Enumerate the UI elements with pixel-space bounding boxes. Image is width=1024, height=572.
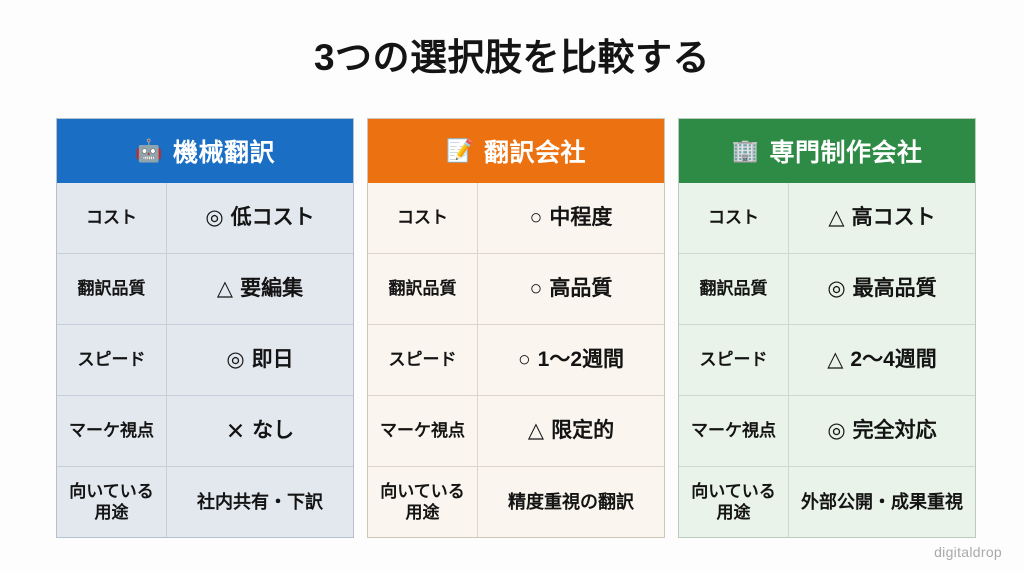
rating-mark: △	[827, 347, 843, 373]
rating-mark: ◎	[827, 276, 845, 302]
row-value-text: 外部公開・成果重視	[801, 491, 963, 514]
row-value-text: 中程度	[549, 205, 612, 231]
row-label: 翻訳品質	[368, 254, 478, 324]
table-header-specialist-production-company: 🏢 専門制作会社	[679, 119, 975, 183]
row-value: ○ 高品質	[478, 254, 664, 324]
row-value: △ 要編集	[167, 254, 353, 324]
table-row: スピード ◎ 即日	[57, 324, 353, 395]
row-label-line2: 用途	[95, 503, 129, 522]
row-label: コスト	[368, 183, 478, 253]
table-body: コスト △ 高コスト 翻訳品質 ◎ 最高品質 スピード △	[679, 183, 975, 537]
table-row: マーケ視点 △ 限定的	[368, 395, 664, 466]
row-value-text: 最高品質	[853, 276, 937, 302]
row-value: 外部公開・成果重視	[789, 467, 975, 537]
row-value-text: 即日	[252, 347, 294, 373]
row-value-text: 社内共有・下訳	[197, 491, 323, 514]
rating-mark: △	[828, 205, 844, 231]
row-label-line1: 向いている	[69, 482, 154, 501]
row-label-line1: 向いている	[691, 482, 776, 501]
row-value-text: 限定的	[551, 418, 614, 444]
row-label: 翻訳品質	[679, 254, 789, 324]
row-label: マーケ視点	[57, 396, 167, 466]
row-label: 翻訳品質	[57, 254, 167, 324]
rating-mark: ◎	[226, 347, 244, 373]
table-row: コスト ○ 中程度	[368, 183, 664, 253]
robot-icon: 🤖	[135, 140, 163, 162]
table-row: 翻訳品質 ◎ 最高品質	[679, 253, 975, 324]
row-value-text: なし	[252, 418, 294, 444]
row-value: ◎ 低コスト	[167, 183, 353, 253]
table-header-label: 専門制作会社	[769, 133, 922, 169]
row-value: 社内共有・下訳	[167, 467, 353, 537]
row-label: スピード	[679, 325, 789, 395]
row-label: マーケ視点	[368, 396, 478, 466]
row-value: ◎ 最高品質	[789, 254, 975, 324]
row-value: △ 限定的	[478, 396, 664, 466]
table-body: コスト ○ 中程度 翻訳品質 ○ 高品質 スピード ○	[368, 183, 664, 537]
row-label-line2: 用途	[717, 503, 751, 522]
table-header-label: 翻訳会社	[484, 133, 586, 169]
memo-icon: 📝	[446, 140, 474, 162]
row-value: ○ 中程度	[478, 183, 664, 253]
row-value: 精度重視の翻訳	[478, 467, 664, 537]
table-row: スピード ○ 1〜2週間	[368, 324, 664, 395]
watermark: digitaldrop	[934, 544, 1002, 560]
rating-mark: ○	[518, 347, 531, 373]
table-row: 翻訳品質 ○ 高品質	[368, 253, 664, 324]
page-title: 3つの選択肢を比較する	[0, 36, 1024, 80]
table-header-machine-translation: 🤖 機械翻訳	[57, 119, 353, 183]
comparison-table-translation-agency: 📝 翻訳会社 コスト ○ 中程度 翻訳品質 ○ 高品質	[367, 118, 665, 538]
table-body: コスト ◎ 低コスト 翻訳品質 △ 要編集 スピード ◎	[57, 183, 353, 537]
row-value: △ 高コスト	[789, 183, 975, 253]
table-row: 向いている 用途 精度重視の翻訳	[368, 466, 664, 537]
row-value: ✕ なし	[167, 396, 353, 466]
comparison-slide: 3つの選択肢を比較する 🤖 機械翻訳 コスト ◎ 低コスト 翻訳品質	[0, 0, 1024, 572]
row-label-line1: 向いている	[380, 482, 465, 501]
table-row: 向いている 用途 外部公開・成果重視	[679, 466, 975, 537]
comparison-tables-container: 🤖 機械翻訳 コスト ◎ 低コスト 翻訳品質 △ 要編集	[56, 118, 976, 538]
row-value-text: 低コスト	[231, 205, 315, 231]
row-value: ◎ 即日	[167, 325, 353, 395]
row-value-text: 高コスト	[852, 205, 936, 231]
table-row: コスト △ 高コスト	[679, 183, 975, 253]
table-header-label: 機械翻訳	[173, 133, 275, 169]
row-label-line2: 用途	[406, 503, 440, 522]
row-label: 向いている 用途	[679, 467, 789, 537]
rating-mark: △	[528, 418, 544, 444]
rating-mark: △	[217, 276, 233, 302]
row-label: コスト	[57, 183, 167, 253]
row-label: 向いている 用途	[368, 467, 478, 537]
row-value: △ 2〜4週間	[789, 325, 975, 395]
row-value-text: 精度重視の翻訳	[508, 491, 634, 514]
table-header-translation-agency: 📝 翻訳会社	[368, 119, 664, 183]
comparison-table-machine-translation: 🤖 機械翻訳 コスト ◎ 低コスト 翻訳品質 △ 要編集	[56, 118, 354, 538]
rating-mark: ○	[530, 205, 543, 231]
row-label: スピード	[57, 325, 167, 395]
row-value-text: 完全対応	[853, 418, 937, 444]
table-row: 向いている 用途 社内共有・下訳	[57, 466, 353, 537]
table-row: マーケ視点 ✕ なし	[57, 395, 353, 466]
rating-mark: ◎	[827, 418, 845, 444]
table-row: コスト ◎ 低コスト	[57, 183, 353, 253]
table-row: スピード △ 2〜4週間	[679, 324, 975, 395]
row-label: 向いている 用途	[57, 467, 167, 537]
table-row: 翻訳品質 △ 要編集	[57, 253, 353, 324]
row-value-text: 2〜4週間	[850, 347, 936, 373]
table-row: マーケ視点 ◎ 完全対応	[679, 395, 975, 466]
office-building-icon: 🏢	[732, 140, 760, 162]
row-value: ◎ 完全対応	[789, 396, 975, 466]
row-label: コスト	[679, 183, 789, 253]
rating-mark: ✕	[226, 417, 245, 446]
rating-mark: ○	[530, 276, 543, 302]
row-label: スピード	[368, 325, 478, 395]
row-value-text: 要編集	[240, 276, 303, 302]
row-value: ○ 1〜2週間	[478, 325, 664, 395]
comparison-table-specialist-production-company: 🏢 専門制作会社 コスト △ 高コスト 翻訳品質 ◎ 最高品質	[678, 118, 976, 538]
row-value-text: 高品質	[549, 276, 612, 302]
row-value-text: 1〜2週間	[538, 347, 624, 373]
rating-mark: ◎	[205, 205, 223, 231]
row-label: マーケ視点	[679, 396, 789, 466]
